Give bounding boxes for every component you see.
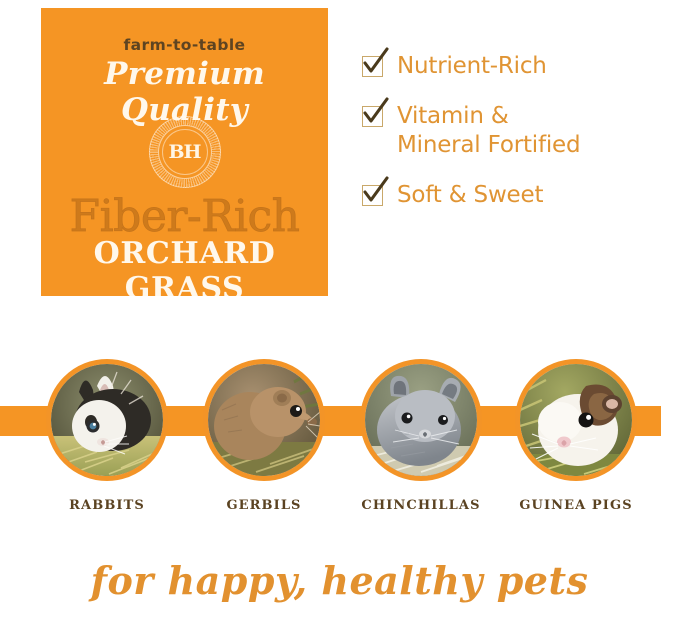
checkmark-icon xyxy=(361,49,391,79)
animal-label: GERBILS xyxy=(203,498,325,513)
checkmark-icon xyxy=(361,99,391,129)
feature-item-nutrient-rich: Nutrient-Rich xyxy=(362,52,662,81)
feature-label: Vitamin & Mineral Fortified xyxy=(397,102,580,160)
rabbit-photo xyxy=(51,364,163,476)
animal-medallion xyxy=(46,359,168,481)
feature-label: Nutrient-Rich xyxy=(397,52,547,81)
chinchilla-photo xyxy=(365,364,477,476)
product-name-secondary: ORCHARD GRASS xyxy=(41,236,328,296)
guinea-pig-photo xyxy=(520,364,632,476)
gerbil-photo xyxy=(208,364,320,476)
animal-medallion xyxy=(360,359,482,481)
animal-medallion xyxy=(203,359,325,481)
animal-medallion xyxy=(515,359,637,481)
tagline: for happy, healthy pets xyxy=(0,558,679,603)
animal-item-chinchillas: CHINCHILLAS xyxy=(360,359,482,513)
animal-label: RABBITS xyxy=(46,498,168,513)
feature-item-vitamin-mineral-fortified: Vitamin & Mineral Fortified xyxy=(362,102,662,160)
checkbox-checked-icon xyxy=(362,185,383,206)
feature-item-soft-sweet: Soft & Sweet xyxy=(362,181,662,210)
feature-list: Nutrient-Rich Vitamin & Mineral Fortifie… xyxy=(362,52,662,231)
animal-item-guinea-pigs: GUINEA PIGS xyxy=(515,359,637,513)
animal-item-rabbits: RABBITS xyxy=(46,359,168,513)
animal-label: CHINCHILLAS xyxy=(360,498,482,513)
brand-panel: farm-to-table Premium Quality BH Fiber-R… xyxy=(41,8,328,296)
product-name-primary: Fiber-Rich xyxy=(41,191,328,242)
brand-eyebrow: farm-to-table xyxy=(41,36,328,54)
feature-label: Soft & Sweet xyxy=(397,181,543,210)
seal-monogram: BH xyxy=(149,116,221,188)
brand-seal-icon: BH xyxy=(149,116,221,188)
checkbox-checked-icon xyxy=(362,56,383,77)
checkbox-checked-icon xyxy=(362,106,383,127)
animal-label: GUINEA PIGS xyxy=(515,498,637,513)
checkmark-icon xyxy=(361,178,391,208)
animal-item-gerbils: GERBILS xyxy=(203,359,325,513)
